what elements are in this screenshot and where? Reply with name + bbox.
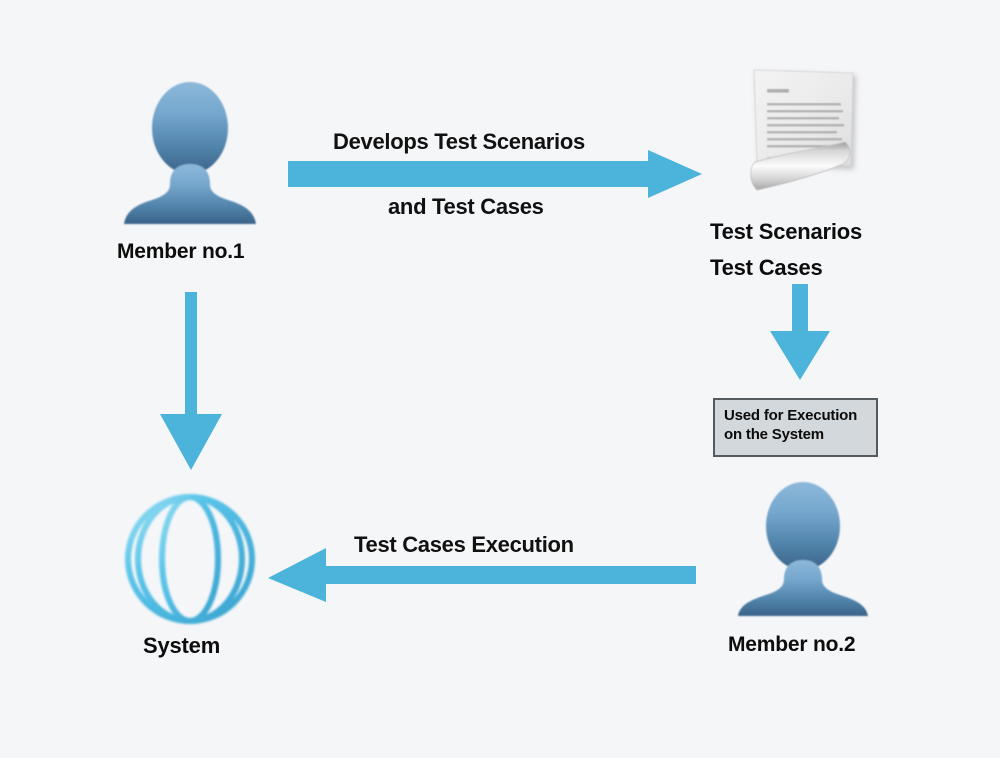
edge-label-develops-line1: Develops Test Scenarios [333, 129, 585, 155]
documents-label-line1: Test Scenarios [710, 214, 862, 250]
edge-label-develops-line2: and Test Cases [388, 194, 544, 220]
diagram-canvas: Member no.1 Member no.2 [0, 0, 1000, 758]
member1-label: Member no.1 [117, 240, 244, 264]
person-avatar-icon-member1[interactable] [120, 76, 260, 224]
arrow-documents-to-note[interactable] [770, 284, 830, 380]
arrow-develops-test-scenarios[interactable] [288, 150, 702, 198]
globe-icon[interactable] [118, 487, 262, 631]
document-scroll-icon[interactable] [735, 58, 875, 203]
person-avatar-icon-member2[interactable] [733, 478, 873, 616]
arrow-member1-to-system[interactable] [160, 292, 222, 470]
note-box-used-for-execution[interactable]: Used for Execution on the System [713, 398, 878, 457]
note-line-2: on the System [724, 425, 868, 444]
system-label: System [143, 633, 220, 659]
edge-label-test-cases-execution: Test Cases Execution [354, 532, 574, 558]
documents-label-line2: Test Cases [710, 250, 823, 286]
note-line-1: Used for Execution [724, 406, 868, 425]
member2-label: Member no.2 [728, 633, 855, 657]
